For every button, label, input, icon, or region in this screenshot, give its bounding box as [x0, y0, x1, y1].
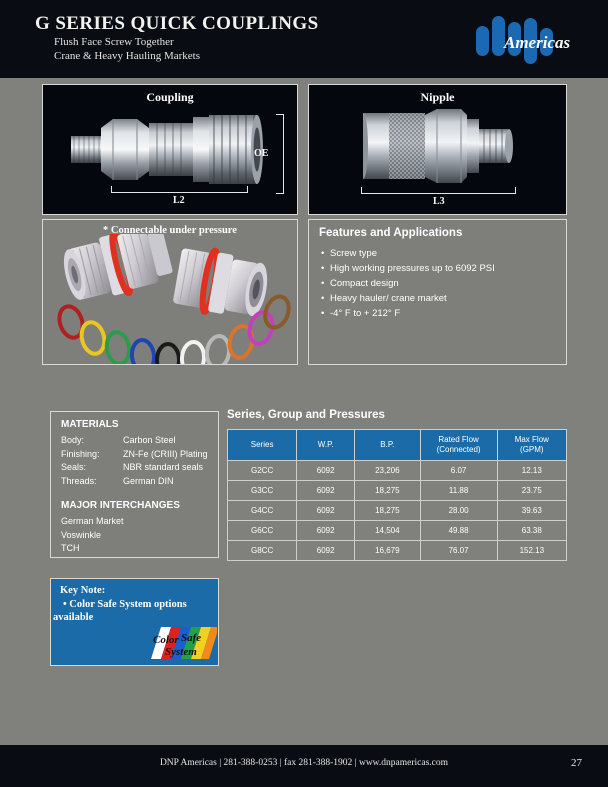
column-header-rated-flow: Rated Flow (Connected) [420, 430, 497, 461]
column-header-line1: Max Flow [500, 435, 564, 445]
cell-rated-flow: 6.07 [420, 461, 497, 481]
interchange-item: Voswinkle [61, 529, 124, 543]
l3-dim-tick-right [515, 187, 516, 194]
column-header-line1: W.P. [299, 440, 352, 450]
coupling-photo-panel: Coupling [42, 84, 298, 215]
materials-key: Body: [61, 434, 123, 448]
color-rings-illustration [43, 234, 297, 364]
svg-text:System: System [165, 646, 197, 658]
feature-item: •Screw type [321, 246, 495, 261]
cell-bp: 14,504 [355, 521, 420, 541]
cell-bp: 18,275 [355, 501, 420, 521]
coupling-product-image [71, 103, 271, 195]
column-header-bp: B.P. [355, 430, 420, 461]
l2-dim-label: L2 [173, 195, 185, 206]
cell-series: G6CC [228, 521, 297, 541]
cell-wp: 6092 [297, 541, 355, 561]
page-root: G SERIES QUICK COUPLINGS Flush Face Scre… [0, 0, 608, 787]
materials-title: MATERIALS [61, 419, 119, 430]
column-header-series: Series [228, 430, 297, 461]
features-list: •Screw type •High working pressures up t… [321, 246, 495, 321]
table-header-row: Series W.P. B.P. Rated Flow (Connected) … [228, 430, 567, 461]
column-header-wp: W.P. [297, 430, 355, 461]
cell-wp: 6092 [297, 481, 355, 501]
series-group-pressures-table: Series W.P. B.P. Rated Flow (Connected) … [227, 429, 567, 561]
cell-bp: 23,206 [355, 461, 420, 481]
column-header-max-flow: Max Flow (GPM) [497, 430, 566, 461]
svg-text:Americas: Americas [503, 33, 570, 52]
oe-dim-tick-top [276, 114, 284, 115]
feature-label: -4° F to + 212° F [330, 308, 400, 319]
oe-dim-label: OE [254, 148, 268, 159]
l3-dim-label: L3 [433, 196, 445, 207]
table-title: Series, Group and Pressures [227, 409, 385, 421]
feature-label: Screw type [330, 248, 377, 259]
materials-key: Seals: [61, 461, 123, 475]
cell-wp: 6092 [297, 501, 355, 521]
nipple-caption: Nipple [309, 90, 566, 105]
cell-wp: 6092 [297, 461, 355, 481]
column-header-line1: Series [230, 440, 294, 450]
feature-item: •-4° F to + 212° F [321, 306, 495, 321]
cell-bp: 18,275 [355, 481, 420, 501]
materials-panel: MATERIALS Body:Carbon Steel Finishing:ZN… [50, 411, 219, 558]
nipple-photo-panel: Nipple [308, 84, 567, 215]
materials-row: Body:Carbon Steel [61, 434, 208, 448]
l2-dim-line [111, 192, 248, 193]
connectable-under-pressure-panel: * Connectable under pressure [42, 219, 298, 365]
table-row: G8CC 6092 16,679 76.07 152.13 [228, 541, 567, 561]
materials-row: Seals:NBR standard seals [61, 461, 208, 475]
feature-label: Heavy hauler/ crane market [330, 293, 447, 304]
key-note-line-1: • Color Safe System options [63, 599, 187, 610]
materials-value: German DIN [123, 476, 174, 486]
materials-rows: Body:Carbon Steel Finishing:ZN-Fe (CRIII… [61, 434, 208, 488]
cell-max-flow: 152.13 [497, 541, 566, 561]
materials-value: ZN-Fe (CRIII) Plating [123, 449, 208, 459]
cell-rated-flow: 49.88 [420, 521, 497, 541]
key-note-title: Key Note: [60, 585, 105, 596]
key-note-panel: Key Note: • Color Safe System options av… [50, 578, 219, 666]
materials-key: Finishing: [61, 448, 123, 462]
key-note-line-2: available [53, 612, 93, 623]
svg-text:Color: Color [153, 634, 179, 646]
materials-row: Finishing:ZN-Fe (CRIII) Plating [61, 448, 208, 462]
cell-rated-flow: 76.07 [420, 541, 497, 561]
major-interchanges-title: MAJOR INTERCHANGES [61, 500, 180, 511]
table-row: G2CC 6092 23,206 6.07 12.13 [228, 461, 567, 481]
cell-series: G8CC [228, 541, 297, 561]
cell-rated-flow: 11.88 [420, 481, 497, 501]
interchange-item: German Market [61, 515, 124, 529]
interchange-item: TCH [61, 542, 124, 556]
column-header-line2: (Connected) [423, 445, 495, 455]
cell-max-flow: 23.75 [497, 481, 566, 501]
oe-dim-line [283, 114, 284, 194]
major-interchanges-rows: German Market Voswinkle TCH [61, 515, 124, 556]
table-row: G6CC 6092 14,504 49.88 63.38 [228, 521, 567, 541]
features-panel: Features and Applications •Screw type •H… [308, 219, 567, 365]
materials-key: Threads: [61, 475, 123, 489]
materials-value: Carbon Steel [123, 435, 176, 445]
materials-value: NBR standard seals [123, 462, 203, 472]
cell-wp: 6092 [297, 521, 355, 541]
table-row: G3CC 6092 18,275 11.88 23.75 [228, 481, 567, 501]
materials-row: Threads:German DIN [61, 475, 208, 489]
l3-dim-tick-left [361, 187, 362, 194]
feature-label: High working pressures up to 6092 PSI [330, 263, 495, 274]
color-safe-system-logo: Color Safe System [141, 625, 217, 661]
l2-dim-tick-left [111, 186, 112, 193]
series-group-pressures-table-wrap: Series W.P. B.P. Rated Flow (Connected) … [227, 429, 567, 561]
header-band: G SERIES QUICK COUPLINGS Flush Face Scre… [0, 0, 608, 78]
features-title: Features and Applications [319, 227, 462, 239]
column-header-line1: Rated Flow [423, 435, 495, 445]
cell-bp: 16,679 [355, 541, 420, 561]
cell-series: G3CC [228, 481, 297, 501]
feature-item: •Compact design [321, 276, 495, 291]
cell-rated-flow: 28.00 [420, 501, 497, 521]
column-header-line1: B.P. [357, 440, 417, 450]
header-subtitle-1: Flush Face Screw Together [54, 36, 174, 48]
l3-dim-line [361, 193, 516, 194]
cell-max-flow: 12.13 [497, 461, 566, 481]
dnp-americas-logo: Americas [468, 12, 588, 68]
table-row: G4CC 6092 18,275 28.00 39.63 [228, 501, 567, 521]
svg-text:Safe: Safe [181, 632, 201, 644]
page-title: G SERIES QUICK COUPLINGS [35, 13, 319, 35]
feature-item: •Heavy hauler/ crane market [321, 291, 495, 306]
cell-series: G4CC [228, 501, 297, 521]
feature-label: Compact design [330, 278, 399, 289]
footer-band: DNP Americas | 281-388-0253 | fax 281-38… [0, 745, 608, 787]
column-header-line2: (GPM) [500, 445, 564, 455]
feature-item: •High working pressures up to 6092 PSI [321, 261, 495, 276]
oe-dim-tick-bottom [276, 193, 284, 194]
page-number: 27 [571, 757, 582, 769]
l2-dim-tick-right [247, 186, 248, 193]
header-subtitle-2: Crane & Heavy Hauling Markets [54, 50, 200, 62]
footer-contact-text: DNP Americas | 281-388-0253 | fax 281-38… [0, 758, 608, 768]
cell-max-flow: 63.38 [497, 521, 566, 541]
cell-series: G2CC [228, 461, 297, 481]
nipple-product-image [363, 105, 513, 187]
cell-max-flow: 39.63 [497, 501, 566, 521]
